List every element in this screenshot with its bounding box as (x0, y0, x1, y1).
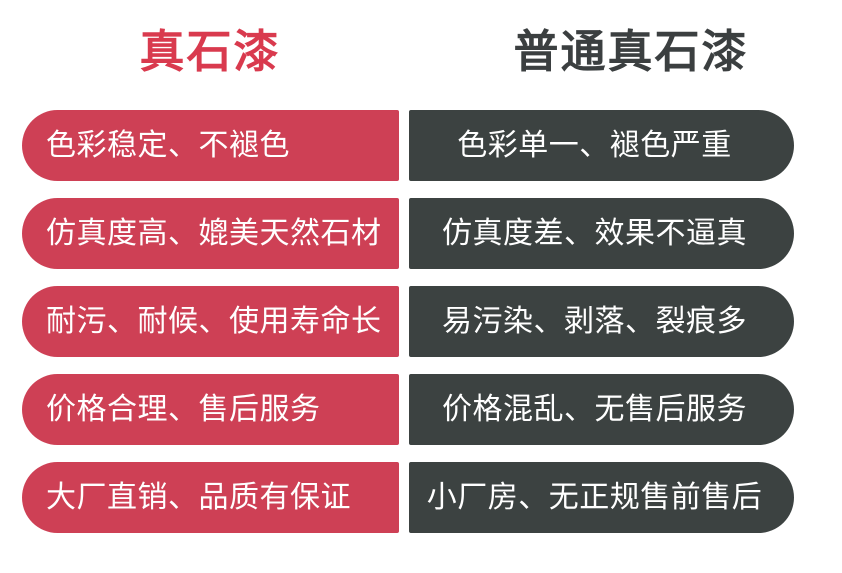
drawback-pill: 易污染、剥落、裂痕多 (409, 286, 794, 357)
drawback-pill: 色彩单一、褪色严重 (409, 110, 794, 181)
advantage-pill: 仿真度高、媲美天然石材 (22, 198, 399, 269)
header-title-left: 真石漆 (0, 22, 420, 82)
advantage-pill: 价格合理、售后服务 (22, 374, 399, 445)
comparison-row: 价格合理、售后服务 价格混乱、无售后服务 (0, 368, 842, 456)
drawback-pill: 小厂房、无正规售前售后 (409, 462, 794, 533)
advantage-text: 色彩稳定、不褪色 (46, 126, 290, 166)
drawback-text: 仿真度差、效果不逼真 (442, 214, 747, 254)
advantage-pill: 耐污、耐候、使用寿命长 (22, 286, 399, 357)
drawback-pill: 仿真度差、效果不逼真 (409, 198, 794, 269)
comparison-row: 仿真度高、媲美天然石材 仿真度差、效果不逼真 (0, 192, 842, 280)
advantage-text: 耐污、耐候、使用寿命长 (46, 302, 382, 342)
comparison-row: 大厂直销、品质有保证 小厂房、无正规售前售后 (0, 456, 842, 544)
header-row: 真石漆 普通真石漆 (0, 0, 842, 104)
comparison-row: 耐污、耐候、使用寿命长 易污染、剥落、裂痕多 (0, 280, 842, 368)
header-title-right: 普通真石漆 (420, 22, 842, 82)
comparison-row: 色彩稳定、不褪色 色彩单一、褪色严重 (0, 104, 842, 192)
advantage-pill: 色彩稳定、不褪色 (22, 110, 399, 181)
advantage-text: 大厂直销、品质有保证 (46, 478, 351, 518)
comparison-infographic: 真石漆 普通真石漆 色彩稳定、不褪色 色彩单一、褪色严重 仿真度高、媲美天然石材… (0, 0, 842, 573)
drawback-text: 小厂房、无正规售前售后 (427, 478, 763, 518)
advantage-pill: 大厂直销、品质有保证 (22, 462, 399, 533)
advantage-text: 仿真度高、媲美天然石材 (46, 214, 382, 254)
drawback-text: 易污染、剥落、裂痕多 (442, 302, 747, 342)
drawback-text: 色彩单一、褪色严重 (457, 126, 732, 166)
drawback-pill: 价格混乱、无售后服务 (409, 374, 794, 445)
advantage-text: 价格合理、售后服务 (46, 390, 321, 430)
drawback-text: 价格混乱、无售后服务 (442, 390, 747, 430)
comparison-rows: 色彩稳定、不褪色 色彩单一、褪色严重 仿真度高、媲美天然石材 仿真度差、效果不逼… (0, 104, 842, 573)
